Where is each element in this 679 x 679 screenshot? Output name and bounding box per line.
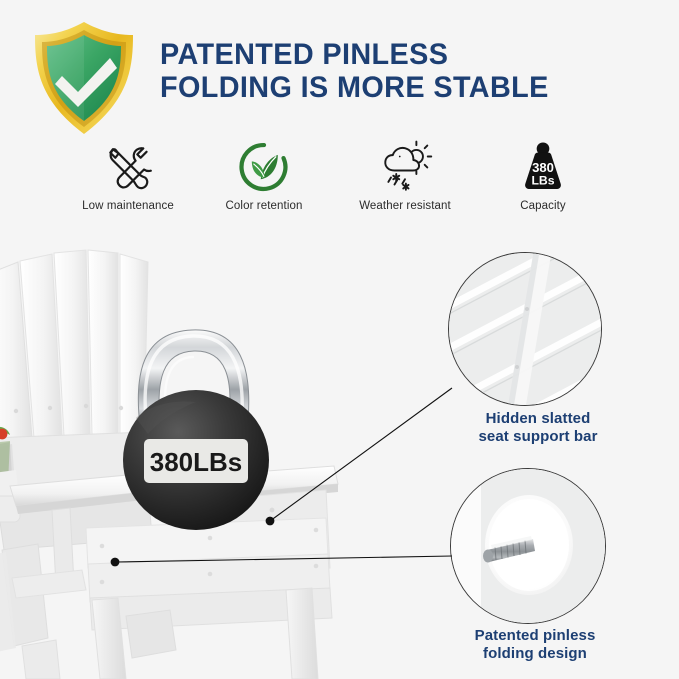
caption-line-2: folding design: [430, 645, 640, 663]
capacity-weight-unit: LBs: [531, 173, 554, 187]
headline-line-1: PATENTED PINLESS: [160, 38, 640, 71]
shield-check-icon: [22, 16, 146, 140]
headline-line-2: FOLDING IS MORE STABLE: [160, 71, 640, 104]
caption-line-1: Patented pinless: [430, 627, 640, 645]
feature-label: Low maintenance: [58, 200, 198, 212]
caption-line-2: seat support bar: [438, 428, 638, 446]
callout-slatted-bar-caption: Hidden slatted seat support bar: [438, 410, 638, 445]
feature-item-color-retention: Color retention: [194, 138, 334, 212]
feature-label: Color retention: [194, 200, 334, 212]
kettlebell-icon: 380LBs: [96, 308, 296, 538]
wrench-screwdriver-icon: [58, 138, 198, 196]
feature-row: Low maintenance Color retention: [58, 138, 628, 224]
threaded-bolt-closeup: [451, 469, 605, 623]
slatted-seat-closeup: [449, 253, 601, 405]
feature-label: Weather resistant: [335, 200, 475, 212]
chair-folding-bracket: [126, 610, 176, 658]
cloud-sun-snow-icon: [335, 138, 475, 196]
feature-label: Capacity: [473, 200, 613, 212]
page-title: PATENTED PINLESS FOLDING IS MORE STABLE: [160, 38, 640, 104]
weight-380lbs-icon: 380 LBs: [473, 138, 613, 196]
infographic-canvas: PATENTED PINLESS FOLDING IS MORE STABLE …: [0, 0, 679, 679]
callout-slatted-bar-circle: [448, 252, 602, 406]
feature-item-low-maintenance: Low maintenance: [58, 138, 198, 212]
callout-pinless-design-circle: [450, 468, 606, 624]
feature-item-capacity: 380 LBs Capacity: [473, 138, 613, 212]
feature-item-weather-resistant: Weather resistant: [335, 138, 475, 212]
chair-front-leg-right: [286, 588, 318, 679]
callout-pinless-design-caption: Patented pinless folding design: [430, 627, 640, 662]
caption-line-1: Hidden slatted: [438, 410, 638, 428]
leaf-circle-icon: [194, 138, 334, 196]
kettlebell-label-text: 380LBs: [150, 447, 243, 477]
